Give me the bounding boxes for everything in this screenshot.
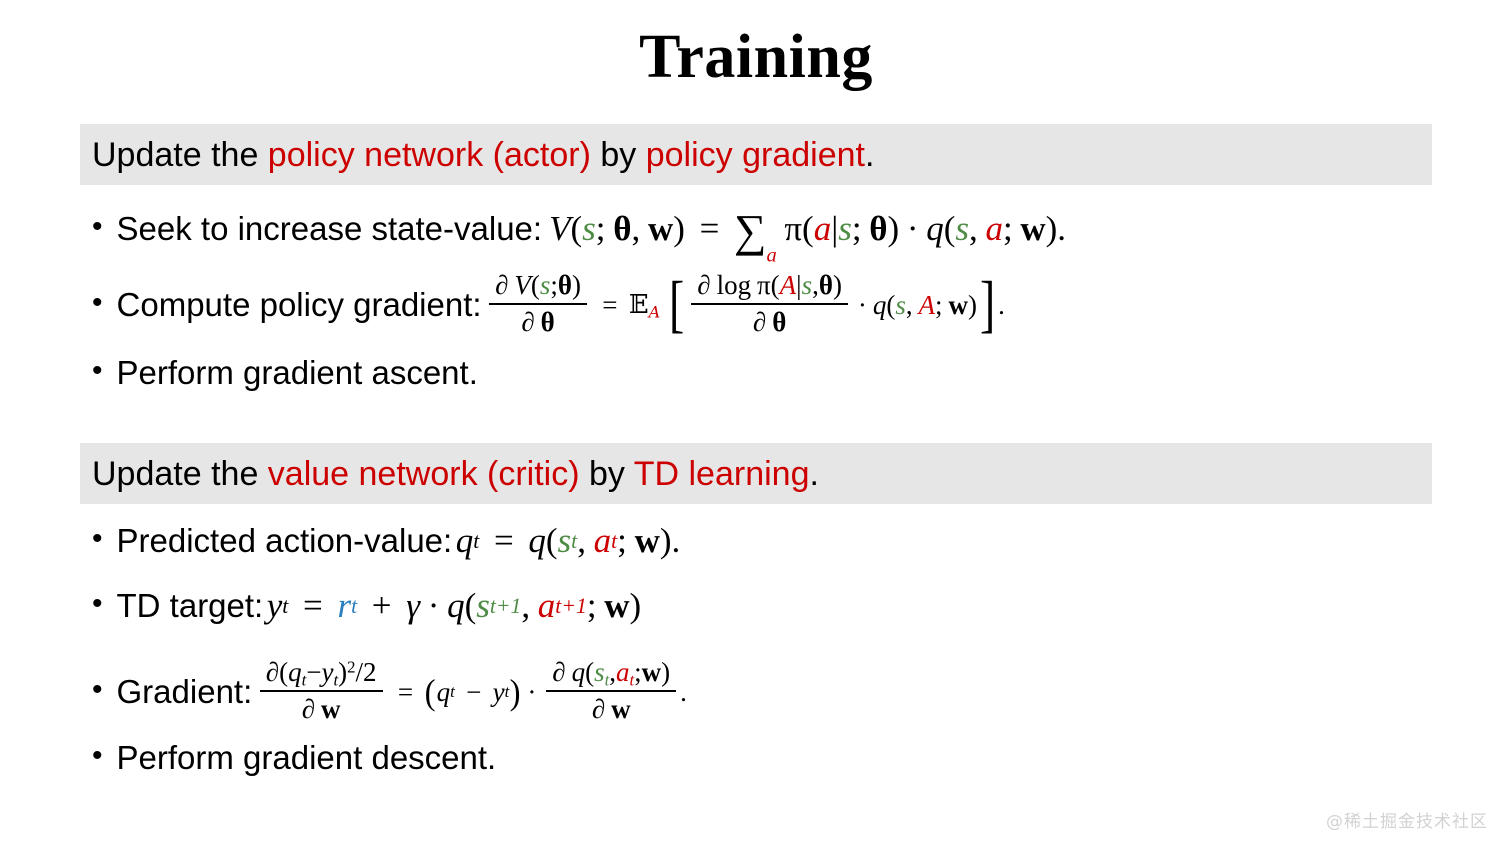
list-item-gradient: • Gradient: ∂(qt−yt)2/2 ∂w = (qt−yt) · ∂… — [92, 658, 687, 726]
list-item-td-target-label: TD target: — [117, 586, 264, 626]
bullet-dot-icon: • — [92, 524, 103, 554]
bullet-dot-icon: • — [92, 589, 103, 619]
list-item-seek-label: Seek to increase state-value: — [117, 209, 543, 249]
critic-header-middle: by — [580, 455, 634, 493]
section-header-actor-text: Update the policy network (actor) by pol… — [92, 135, 874, 175]
list-item-ascent: • Perform gradient ascent. — [92, 353, 478, 393]
list-item-seek: • Seek to increase state-value: V(s;θ,w)… — [92, 202, 1066, 255]
fraction-loss-dw: ∂(qt−yt)2/2 ∂w — [260, 657, 383, 725]
critic-header-highlight2: TD learning — [634, 455, 810, 493]
watermark: @稀土掘金技术社区 — [1326, 807, 1488, 832]
actor-header-suffix: . — [865, 136, 874, 174]
fraction-dlogpi-dtheta: ∂logπ(A|s,θ) ∂θ — [691, 270, 848, 338]
bullet-dot-icon: • — [92, 212, 103, 242]
section-header-critic-text: Update the value network (critic) by TD … — [92, 454, 819, 494]
critic-header-highlight1: value network (critic) — [268, 455, 580, 493]
equation-td-target: yt = rt + γ· q(st+1,at+1;w) — [267, 586, 641, 626]
bullet-dot-icon: • — [92, 356, 103, 386]
equation-critic-gradient: ∂(qt−yt)2/2 ∂w = (qt−yt) · ∂q(st,at;w) ∂… — [256, 658, 687, 726]
slide-root: Training Update the policy network (acto… — [0, 0, 1512, 850]
fraction-dv-dtheta: ∂V(s;θ) ∂θ — [489, 270, 587, 338]
bullet-dot-icon: • — [92, 741, 103, 771]
list-item-predicted-label: Predicted action-value: — [117, 521, 453, 561]
actor-header-prefix: Update the — [92, 136, 268, 174]
equation-state-value: V(s;θ,w) = ∑a π(a|s;θ) · q(s,a;w). — [549, 202, 1066, 255]
section-header-critic: Update the value network (critic) by TD … — [80, 443, 1432, 504]
list-item-compute-label: Compute policy gradient: — [117, 285, 482, 325]
bullet-dot-icon: • — [92, 675, 103, 705]
list-item-descent-label: Perform gradient descent. — [117, 738, 497, 778]
list-item-td-target: • TD target: yt = rt + γ· q(st+1,at+1;w) — [92, 586, 641, 626]
section-header-actor: Update the policy network (actor) by pol… — [80, 124, 1432, 185]
critic-header-suffix: . — [809, 455, 818, 493]
page-title: Training — [0, 18, 1512, 96]
actor-header-highlight2: policy gradient — [646, 136, 865, 174]
actor-header-highlight1: policy network (actor) — [268, 136, 591, 174]
critic-header-prefix: Update the — [92, 455, 268, 493]
list-item-ascent-label: Perform gradient ascent. — [117, 353, 478, 393]
list-item-descent: • Perform gradient descent. — [92, 738, 496, 778]
equation-policy-gradient: ∂V(s;θ) ∂θ = 𝔼A [ ∂logπ(A|s,θ) ∂θ · q(s,… — [485, 268, 1005, 342]
equation-predicted-action-value: qt = q(st,at;w). — [456, 521, 681, 561]
fraction-dq-dw: ∂q(st,at;w) ∂w — [546, 657, 676, 725]
list-item-gradient-label: Gradient: — [117, 672, 253, 712]
actor-header-middle: by — [591, 136, 646, 174]
bullet-dot-icon: • — [92, 288, 103, 318]
list-item-compute: • Compute policy gradient: ∂V(s;θ) ∂θ = … — [92, 268, 1005, 342]
list-item-predicted: • Predicted action-value: qt = q(st,at;w… — [92, 521, 680, 561]
